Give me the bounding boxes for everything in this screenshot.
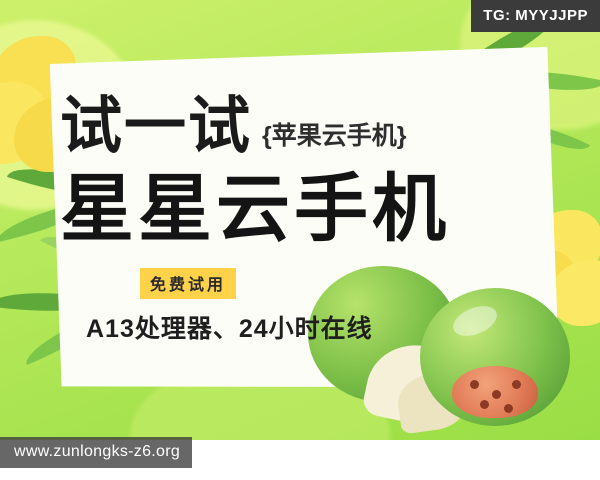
brand-tag: {苹果云手机} [262, 116, 406, 158]
telegram-watermark: TG: MYYJJPP [471, 0, 600, 32]
headline-secondary: 星星云手机 [60, 172, 550, 246]
badge-row: 免费试用 [140, 268, 550, 299]
headline-primary: 试一试 [60, 96, 252, 158]
headline-row: 试一试 {苹果云手机} [60, 96, 550, 158]
free-trial-badge: 免费试用 [140, 268, 236, 299]
poster-text-block: 试一试 {苹果云手机} 星星云手机 免费试用 A13处理器、24小时在线 [60, 96, 550, 345]
poster-image: 试一试 {苹果云手机} 星星云手机 免费试用 A13处理器、24小时在线 TG:… [0, 0, 600, 480]
feature-subline: A13处理器、24小时在线 [86, 309, 550, 345]
site-watermark: www.zunlongks-z6.org [0, 437, 192, 468]
